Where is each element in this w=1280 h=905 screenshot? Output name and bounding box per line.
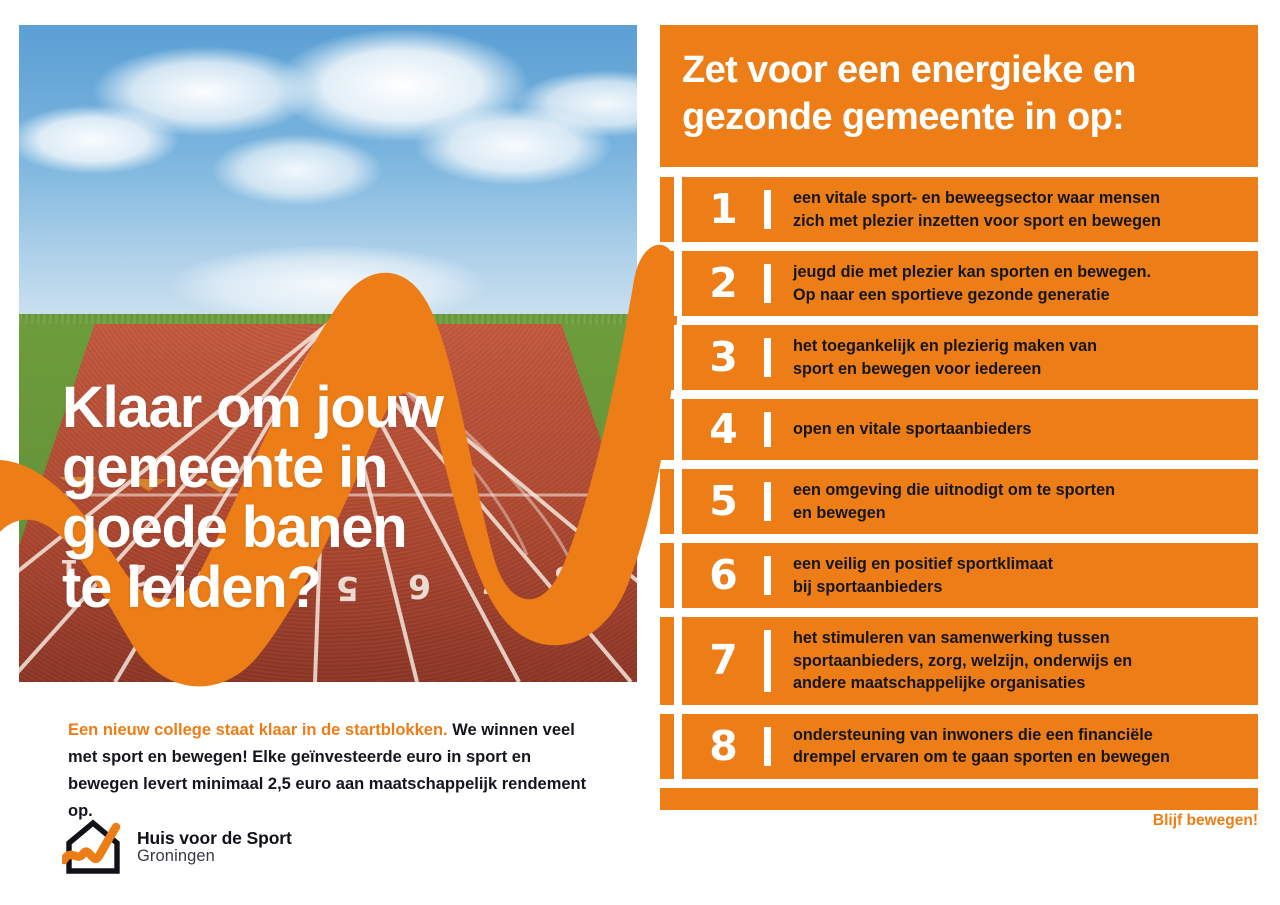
list-item-text: ondersteuning van inwoners die een finan… <box>771 724 1258 769</box>
list-item-number: 6 <box>682 555 764 596</box>
row-divider <box>764 338 771 377</box>
row-accent-bar <box>660 251 674 316</box>
list-item-number: 4 <box>682 409 764 450</box>
organization-logo[interactable]: Huis voor de Sport Groningen <box>62 818 292 876</box>
row-gap <box>674 177 682 242</box>
row-body: 3het toegankelijk en plezierig maken van… <box>682 325 1258 390</box>
row-divider <box>764 190 771 229</box>
row-accent-bar <box>660 543 674 608</box>
row-divider <box>764 630 771 692</box>
list-item[interactable]: 3het toegankelijk en plezierig maken van… <box>660 325 1258 390</box>
logo-subtitle: Groningen <box>137 848 292 865</box>
right-column: Zet voor een energieke en gezonde gemeen… <box>660 25 1258 810</box>
list-item-number: 2 <box>682 263 764 304</box>
row-divider <box>764 412 771 447</box>
row-gap <box>674 469 682 534</box>
list-item-text: het toegankelijk en plezierig maken van … <box>771 335 1258 380</box>
row-body: 7het stimuleren van samenwerking tussen … <box>682 617 1258 705</box>
list-item[interactable]: 6een veilig en positief sportklimaat bij… <box>660 543 1258 608</box>
list-item-text: een veilig en positief sportklimaat bij … <box>771 553 1258 598</box>
list-item-text: een vitale sport- en beweegsector waar m… <box>771 187 1258 232</box>
row-accent-bar <box>660 617 674 705</box>
list-item-number: 7 <box>682 640 764 681</box>
left-column: 1 2 3 4 5 6 7 8 <box>0 0 660 905</box>
row-gap <box>674 617 682 705</box>
row-divider <box>764 556 771 595</box>
row-gap <box>674 399 682 460</box>
row-gap <box>674 543 682 608</box>
panel-header-title: Zet voor een energieke en gezonde gemeen… <box>682 47 1236 141</box>
list-item-number: 5 <box>682 481 764 522</box>
body-paragraph: Een nieuw college staat klaar in de star… <box>68 717 598 825</box>
row-gap <box>674 714 682 779</box>
priority-list: 1een vitale sport- en beweegsector waar … <box>660 177 1258 779</box>
row-accent-bar <box>660 469 674 534</box>
row-accent-bar <box>660 177 674 242</box>
page-title: Klaar om jouw gemeente in goede banen te… <box>62 378 582 618</box>
list-item[interactable]: 7het stimuleren van samenwerking tussen … <box>660 617 1258 705</box>
list-item-number: 3 <box>682 337 764 378</box>
row-gap <box>674 251 682 316</box>
list-item[interactable]: 4open en vitale sportaanbieders <box>660 399 1258 460</box>
panel-header: Zet voor een energieke en gezonde gemeen… <box>660 25 1258 167</box>
list-item-number: 1 <box>682 189 764 230</box>
row-body: 5een omgeving die uitnodigt om te sporte… <box>682 469 1258 534</box>
row-accent-bar <box>660 714 674 779</box>
list-item-text: het stimuleren van samenwerking tussen s… <box>771 627 1258 695</box>
row-body: 1een vitale sport- en beweegsector waar … <box>682 177 1258 242</box>
row-body: 6een veilig en positief sportklimaat bij… <box>682 543 1258 608</box>
row-body: 8ondersteuning van inwoners die een fina… <box>682 714 1258 779</box>
row-accent-bar <box>660 399 674 460</box>
list-item[interactable]: 2jeugd die met plezier kan sporten en be… <box>660 251 1258 316</box>
row-gap <box>674 325 682 390</box>
row-accent-bar <box>660 325 674 390</box>
house-logo-icon <box>62 818 124 876</box>
row-divider <box>764 264 771 303</box>
row-body: 4open en vitale sportaanbieders <box>682 399 1258 460</box>
list-item-text: een omgeving die uitnodigt om te sporten… <box>771 479 1258 524</box>
list-item-number: 8 <box>682 726 764 767</box>
tagline: Blijf bewegen! <box>1153 812 1258 830</box>
row-divider <box>764 482 771 521</box>
poster-root: 1 2 3 4 5 6 7 8 <box>0 0 1280 905</box>
body-lead-text: Een nieuw college staat klaar in de star… <box>68 721 448 739</box>
footer-bar <box>660 788 1258 810</box>
list-item-text: open en vitale sportaanbieders <box>771 418 1258 441</box>
row-body: 2jeugd die met plezier kan sporten en be… <box>682 251 1258 316</box>
logo-title: Huis voor de Sport <box>137 829 292 848</box>
list-item[interactable]: 5een omgeving die uitnodigt om te sporte… <box>660 469 1258 534</box>
logo-wordmark: Huis voor de Sport Groningen <box>137 829 292 865</box>
list-item-text: jeugd die met plezier kan sporten en bew… <box>771 261 1258 306</box>
row-divider <box>764 727 771 766</box>
list-item[interactable]: 8ondersteuning van inwoners die een fina… <box>660 714 1258 779</box>
list-item[interactable]: 1een vitale sport- en beweegsector waar … <box>660 177 1258 242</box>
